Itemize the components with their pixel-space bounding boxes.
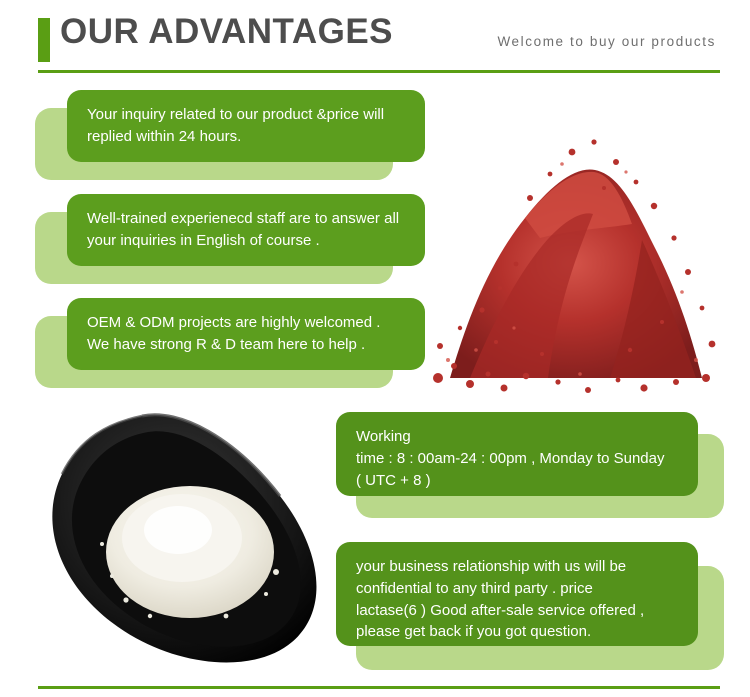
bubble-body: your business relationship with us will … <box>336 542 698 646</box>
bubble-body: OEM & ODM projects are highly welcomed .… <box>67 298 425 370</box>
page-header: OUR ADVANTAGES Welcome to buy our produc… <box>30 8 720 70</box>
bubble-oem-odm: OEM & ODM projects are highly welcomed .… <box>35 298 425 398</box>
bubble-working-time: Working time : 8 : 00am-24 : 00pm , Mond… <box>336 412 724 524</box>
advantages-page: OUR ADVANTAGES Welcome to buy our produc… <box>0 0 750 697</box>
bubble-trained-staff: Well-trained experienecd staff are to an… <box>35 194 425 294</box>
title-accent-bar <box>38 18 50 62</box>
white-powder-bowl-image <box>30 404 350 684</box>
bubble-confidentiality: your business relationship with us will … <box>336 542 724 674</box>
bubble-inquiry-response: Your inquiry related to our product &pri… <box>35 90 425 190</box>
bubble-body: Well-trained experienecd staff are to an… <box>67 194 425 266</box>
bubble-body: Your inquiry related to our product &pri… <box>67 90 425 162</box>
page-title: OUR ADVANTAGES <box>60 12 393 52</box>
bubble-body: Working time : 8 : 00am-24 : 00pm , Mond… <box>336 412 698 496</box>
red-powder-pile-image <box>430 78 720 396</box>
footer-divider <box>38 686 720 689</box>
welcome-text: Welcome to buy our products <box>497 34 716 49</box>
red-powder-svg <box>430 78 720 396</box>
header-divider <box>38 70 720 73</box>
white-powder-bowl-svg <box>30 404 350 684</box>
